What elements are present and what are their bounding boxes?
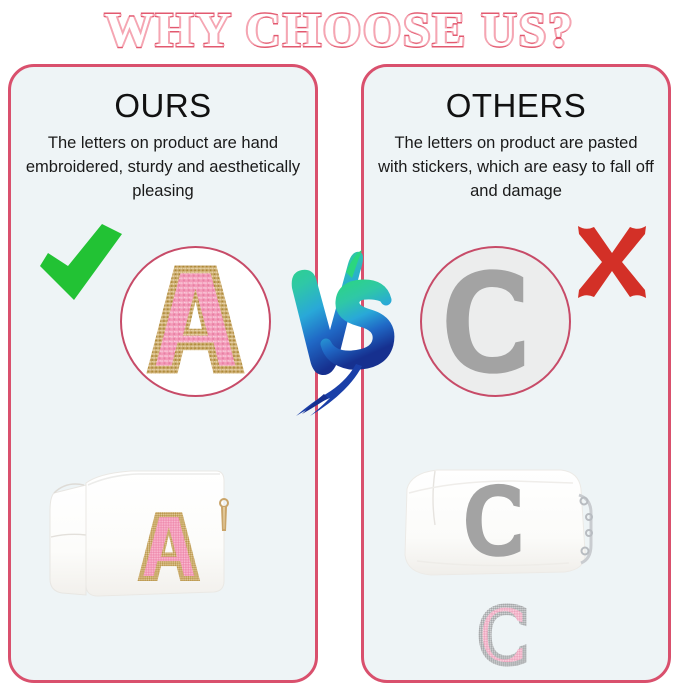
vs-brush-graphic bbox=[286, 244, 394, 420]
comparison-infographic: WHY CHOOSE US? OURS The letters on produ… bbox=[0, 0, 679, 689]
panel-ours-heading: OURS bbox=[11, 87, 315, 125]
sticker-letter-c-icon bbox=[422, 248, 569, 395]
panel-others-description: The letters on product are pasted with s… bbox=[378, 132, 654, 204]
product-bag-ours bbox=[40, 455, 268, 600]
panel-ours-description: The letters on product are hand embroide… bbox=[25, 132, 301, 204]
patch-circle-others bbox=[420, 246, 571, 397]
chenille-letter-a-icon bbox=[122, 248, 269, 395]
fallen-chenille-patch-c bbox=[470, 597, 546, 673]
product-bag-others bbox=[393, 455, 621, 590]
page-title-text: WHY CHOOSE US? bbox=[105, 5, 575, 54]
green-check-icon bbox=[38, 222, 124, 304]
patch-circle-ours bbox=[120, 246, 271, 397]
page-title: WHY CHOOSE US? bbox=[0, 2, 679, 56]
red-cross-icon bbox=[572, 222, 652, 302]
panel-others-heading: OTHERS bbox=[364, 87, 668, 125]
